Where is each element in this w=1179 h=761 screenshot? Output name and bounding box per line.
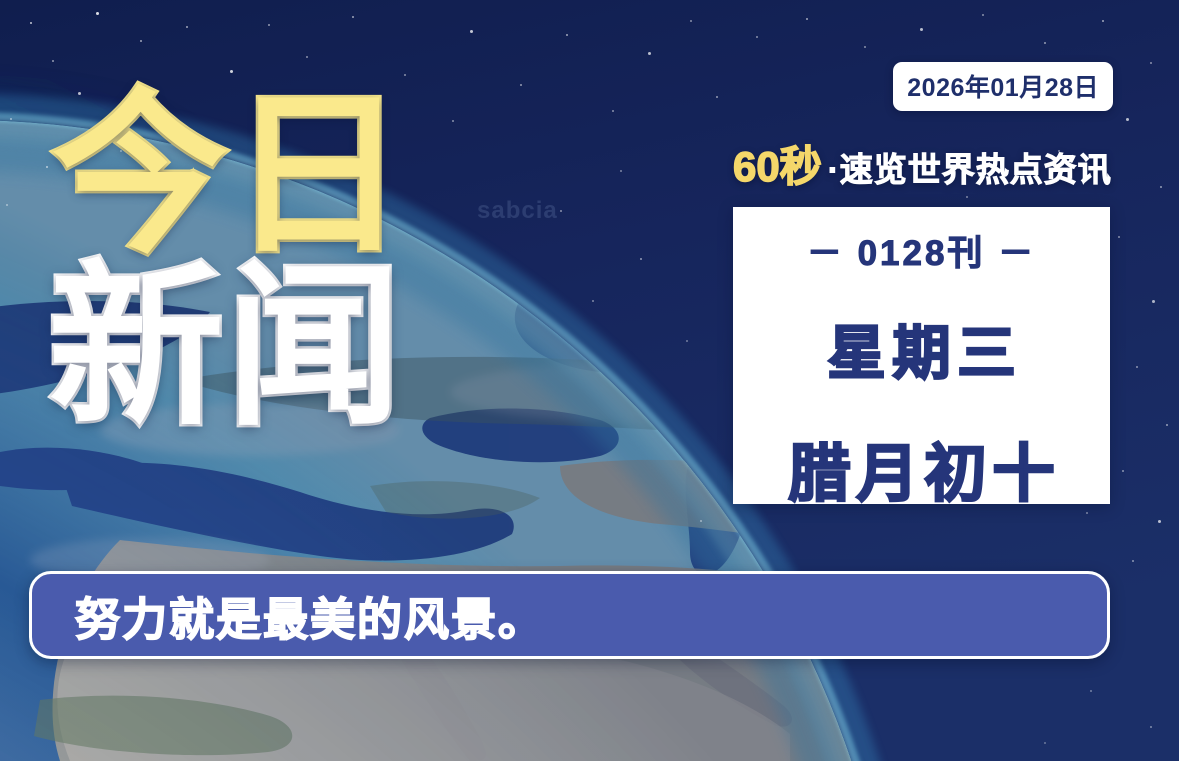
lunar-date-label: 腊月初十 xyxy=(782,423,1060,513)
tagline-seconds: 60秒 xyxy=(733,133,822,194)
page-title: 今日 新闻 xyxy=(52,96,472,430)
quote-bar: 努力就是最美的风景。 xyxy=(29,571,1110,659)
tagline: 60秒 ·速览世界热点资讯 xyxy=(733,133,1113,194)
quote-text: 努力就是最美的风景。 xyxy=(75,583,545,648)
right-info-column: 2026年01月28日 60秒 ·速览世界热点资讯 － 0128刊 － 星期三 … xyxy=(733,62,1113,504)
headline-line-news: 新闻 xyxy=(48,268,472,430)
issue-number: － 0128刊 － xyxy=(807,225,1036,276)
headline-line-today: 今日 xyxy=(52,96,472,258)
info-card: － 0128刊 － 星期三 腊月初十 xyxy=(733,207,1110,504)
weekday-label: 星期三 xyxy=(820,306,1022,390)
date-badge: 2026年01月28日 xyxy=(893,62,1113,111)
news-poster: sabcia 今日 新闻 2026年01月28日 60秒 ·速览世界热点资讯 －… xyxy=(0,0,1179,761)
tagline-description: ·速览世界热点资讯 xyxy=(828,143,1112,191)
